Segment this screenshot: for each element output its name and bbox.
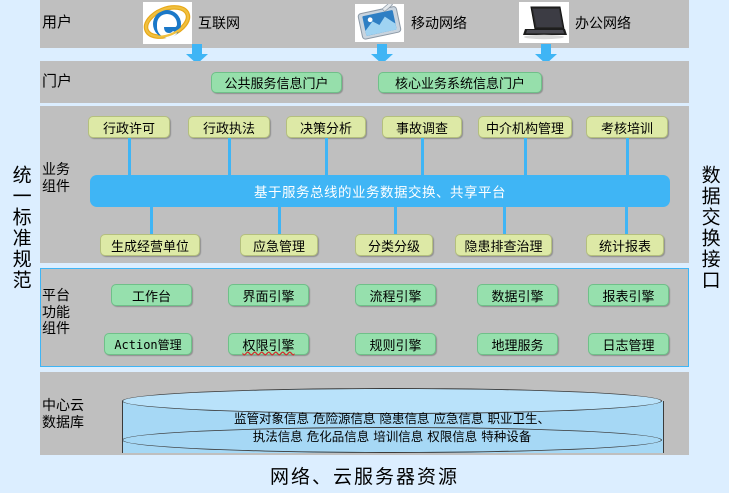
platform-box-top-0[interactable]: 工作台: [111, 284, 192, 306]
business-box-top-2[interactable]: 决策分析: [286, 116, 366, 138]
tablet-device-icon: [355, 4, 404, 42]
central-cloud-database[interactable]: 监管对象信息 危险源信息 隐患信息 应急信息 职业卫生、 执法信息 危化品信息 …: [122, 388, 662, 440]
database-content-line2: 执法信息 危化品信息 培训信息 权限信息 特种设备: [122, 428, 662, 446]
platform-box-top-4[interactable]: 报表引擎: [588, 284, 669, 306]
connector-top-3: [421, 138, 424, 175]
platform-box-bottom-3[interactable]: 地理服务: [477, 333, 558, 355]
portal-row-band: [40, 61, 689, 103]
database-content-text: 监管对象信息 危险源信息 隐患信息 应急信息 职业卫生、 执法信息 危化品信息 …: [122, 410, 662, 446]
user-channel-label-0: 互联网: [198, 13, 240, 33]
business-box-top-0[interactable]: 行政许可: [88, 116, 170, 138]
platform-box-bottom-4[interactable]: 日志管理: [588, 333, 669, 355]
business-box-top-5[interactable]: 考核培训: [586, 116, 668, 138]
business-box-bottom-3[interactable]: 隐患排查治理: [455, 234, 552, 256]
connector-top-2: [325, 138, 328, 175]
platform-row-label: 平台 功能 组件: [42, 288, 94, 338]
business-box-bottom-2[interactable]: 分类分级: [355, 234, 433, 256]
connector-bottom-0: [150, 207, 153, 234]
user-row-label: 用户: [42, 14, 94, 32]
business-box-bottom-0[interactable]: 生成经营单位: [100, 234, 200, 256]
connector-bottom-1: [278, 207, 281, 234]
business-row-label-line1: 业务: [42, 162, 94, 179]
platform-box-top-3[interactable]: 数据引擎: [477, 284, 558, 306]
laptop-icon: [519, 2, 569, 43]
database-content-line1: 监管对象信息 危险源信息 隐患信息 应急信息 职业卫生、: [122, 410, 662, 428]
database-row-label: 中心云 数据库: [42, 398, 102, 431]
connector-bottom-3: [503, 207, 506, 234]
left-vertical-label: 统一标准规范: [0, 0, 40, 455]
connector-bottom-2: [394, 207, 397, 234]
portal-row-label: 门户: [42, 73, 94, 91]
business-box-top-1[interactable]: 行政执法: [188, 116, 270, 138]
architecture-diagram: 统一标准规范 数据交换接口 用户 互联网 移动网络: [0, 0, 729, 493]
portal-box-1[interactable]: 核心业务系统信息门户: [378, 72, 542, 93]
business-box-bottom-4[interactable]: 统计报表: [586, 234, 664, 256]
platform-row-label-line1: 平台: [42, 288, 94, 305]
service-bus-bar[interactable]: 基于服务总线的业务数据交换、共享平台: [90, 175, 670, 207]
platform-row-label-line2: 功能: [42, 305, 94, 322]
business-row-label: 业务 组件: [42, 162, 94, 195]
business-box-bottom-1[interactable]: 应急管理: [240, 234, 318, 256]
business-box-top-3[interactable]: 事故调查: [382, 116, 462, 138]
connector-top-1: [228, 138, 231, 175]
platform-row-label-line3: 组件: [42, 321, 94, 338]
connector-top-5: [626, 138, 629, 175]
right-vertical-label: 数据交换接口: [689, 0, 729, 455]
bottom-caption: 网络、云服务器资源: [0, 462, 729, 489]
platform-box-top-1[interactable]: 界面引擎: [228, 284, 309, 306]
portal-box-0[interactable]: 公共服务信息门户: [211, 72, 342, 93]
user-channel-label-1: 移动网络: [411, 13, 467, 33]
platform-box-bottom-1[interactable]: 权限引擎: [228, 333, 309, 355]
internet-explorer-icon: [143, 2, 192, 44]
database-row-label-line1: 中心云: [42, 398, 102, 415]
business-box-top-4[interactable]: 中介机构管理: [478, 116, 572, 138]
platform-box-top-2[interactable]: 流程引擎: [355, 284, 436, 306]
user-channel-label-2: 办公网络: [575, 13, 631, 33]
platform-box-bottom-2[interactable]: 规则引擎: [355, 333, 436, 355]
platform-box-bottom-0[interactable]: Action管理: [104, 333, 192, 355]
platform-box-bottom-1-label: 权限引擎: [242, 335, 294, 354]
connector-bottom-4: [625, 207, 628, 234]
connector-top-4: [524, 138, 527, 175]
business-row-label-line2: 组件: [42, 179, 94, 196]
database-row-label-line2: 数据库: [42, 415, 102, 432]
connector-top-0: [128, 138, 131, 175]
